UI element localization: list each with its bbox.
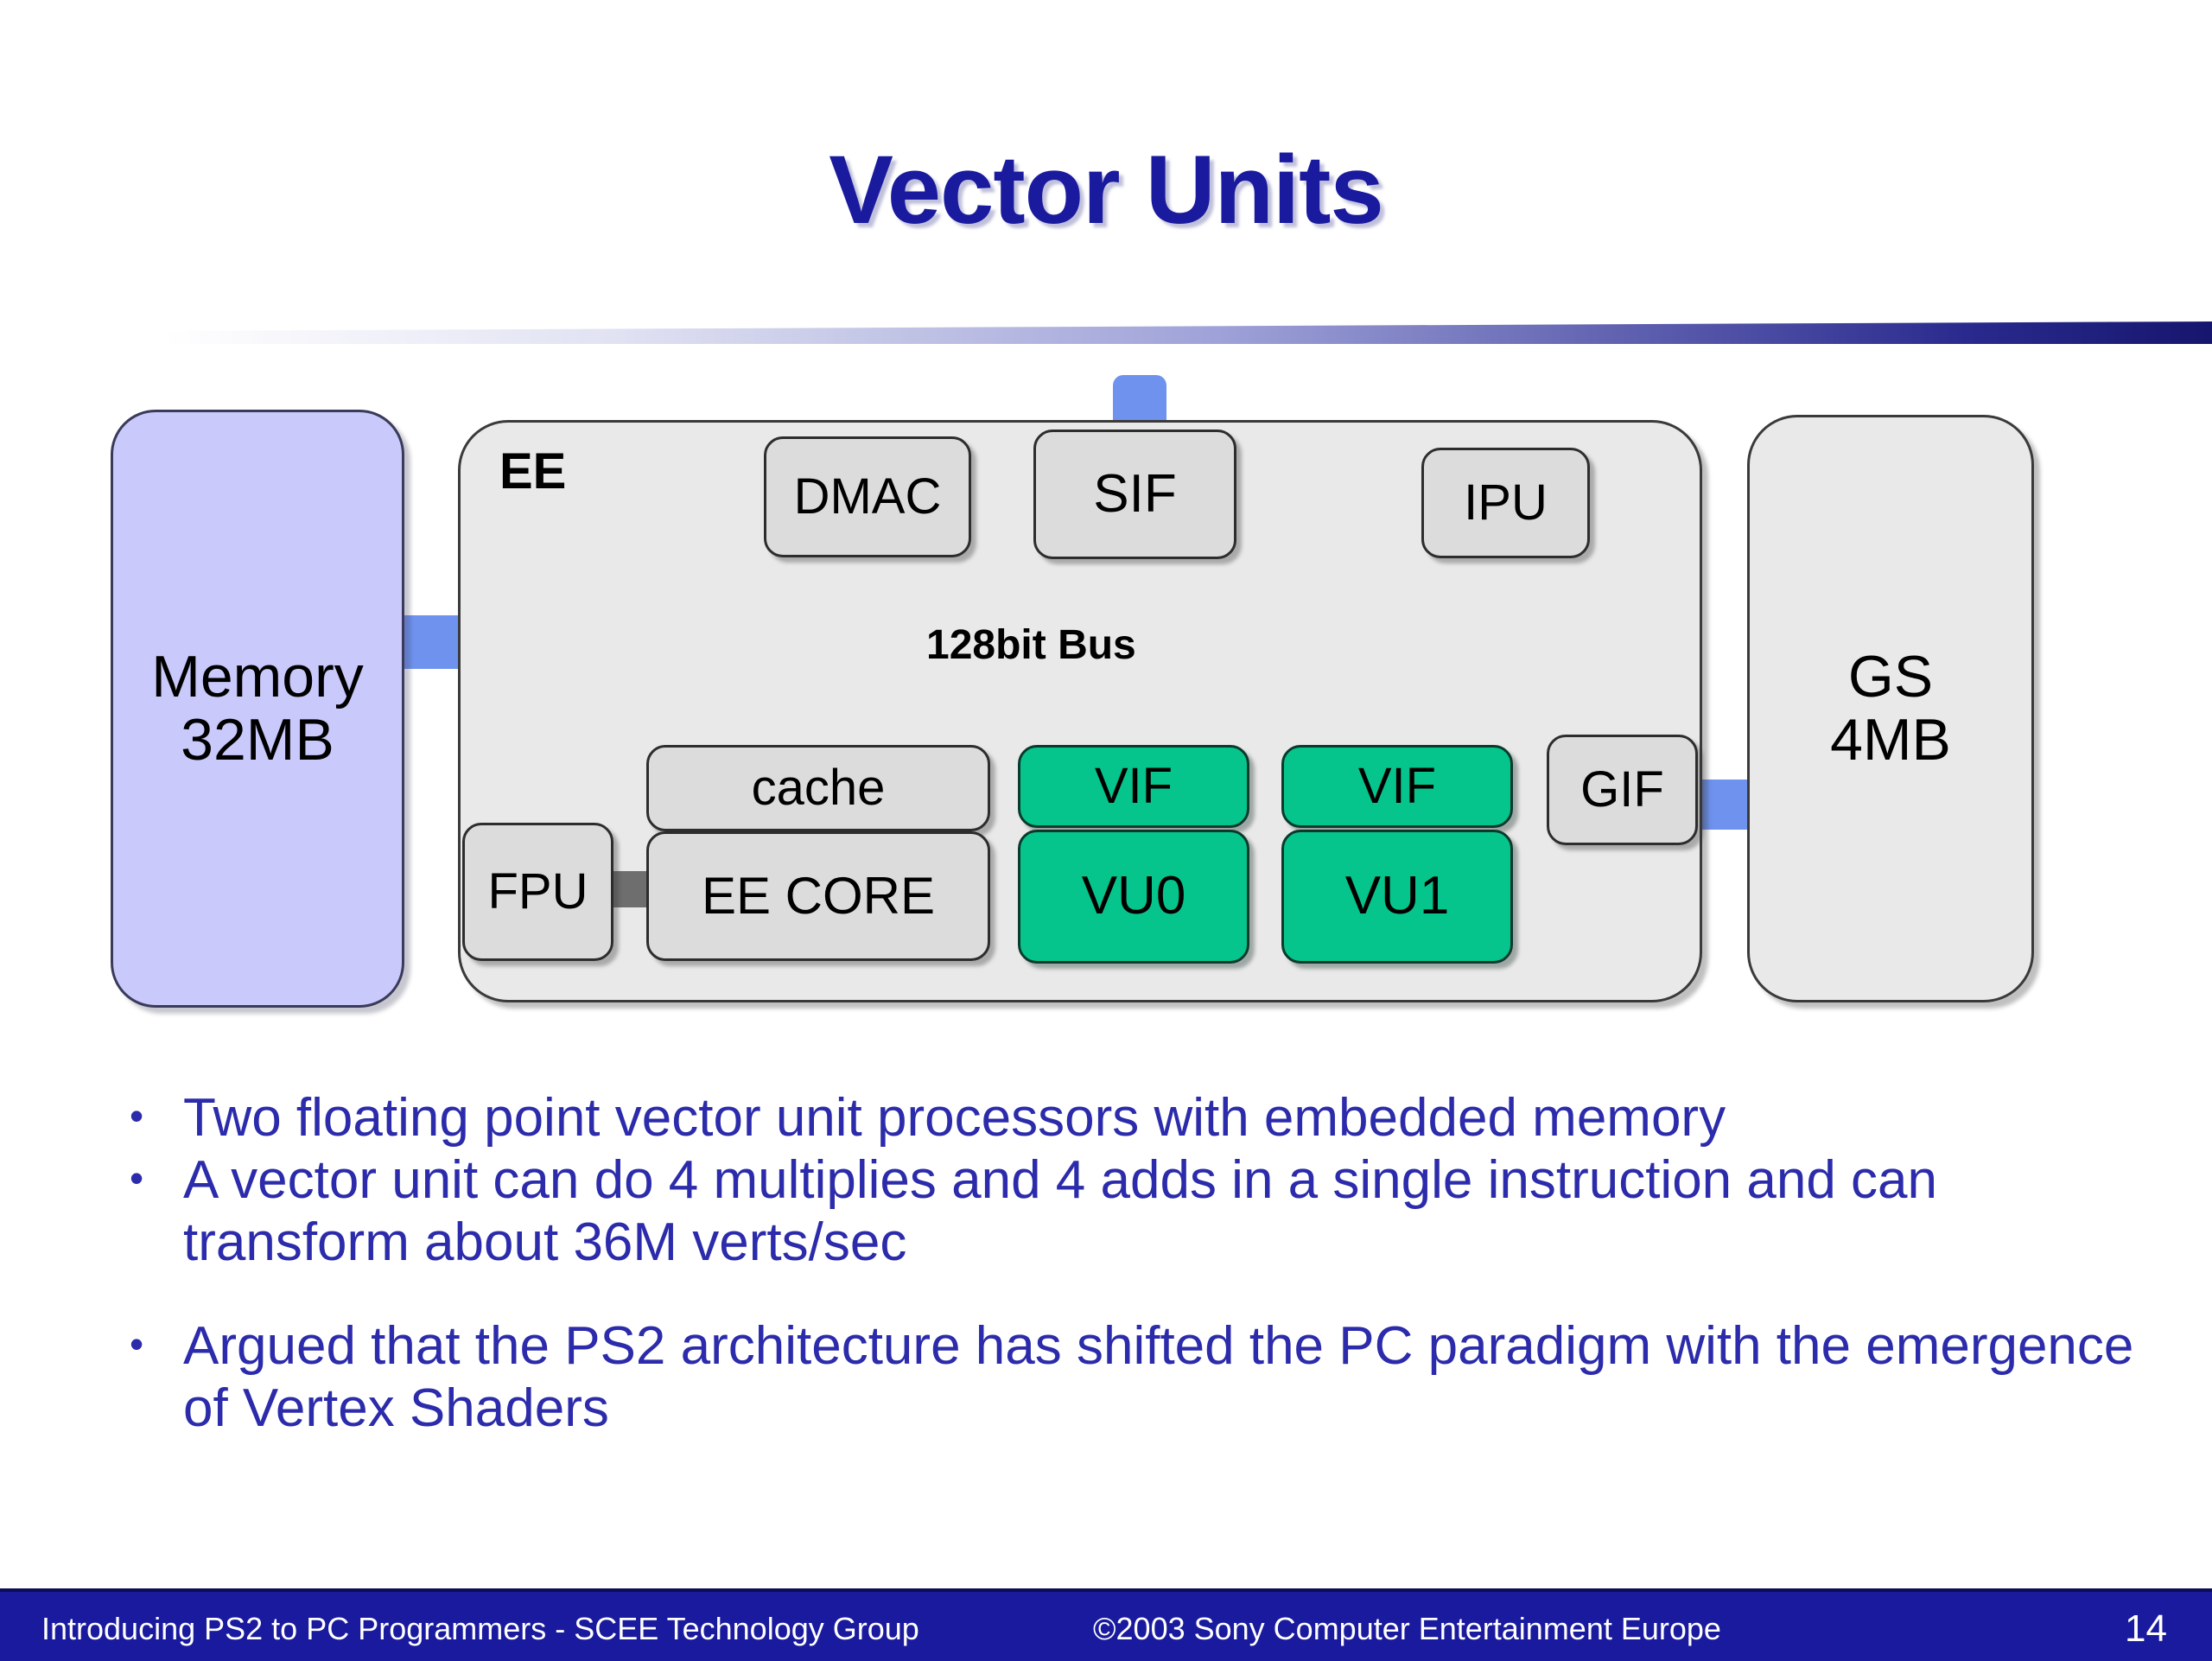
vu0-unit[interactable]: VU0 — [1018, 830, 1249, 964]
sif-unit[interactable]: SIF — [1033, 430, 1236, 559]
gif-unit[interactable]: GIF — [1547, 735, 1698, 845]
cache-unit[interactable]: cache — [646, 745, 990, 831]
memory-label-line2: 32MB — [181, 709, 334, 772]
vif1-unit[interactable]: VIF — [1281, 745, 1513, 828]
vif0-unit[interactable]: VIF — [1018, 745, 1249, 828]
fpu-unit[interactable]: FPU — [462, 823, 613, 961]
dmac-unit[interactable]: DMAC — [764, 436, 971, 557]
title-divider — [164, 321, 2212, 344]
footer-left-text: Introducing PS2 to PC Programmers - SCEE… — [41, 1611, 919, 1647]
bullet-text: Argued that the PS2 architecture has shi… — [183, 1315, 2152, 1440]
memory-label-line1: Memory — [151, 646, 364, 709]
list-item: • Two floating point vector unit process… — [130, 1087, 2152, 1149]
bullet-list: • Two floating point vector unit process… — [130, 1087, 2152, 1440]
list-item: • A vector unit can do 4 multiplies and … — [130, 1149, 2152, 1274]
page-title: Vector Units — [0, 134, 2212, 245]
bullet-dot-icon: • — [130, 1087, 183, 1145]
vu1-unit[interactable]: VU1 — [1281, 830, 1513, 964]
ipu-unit[interactable]: IPU — [1421, 448, 1590, 558]
bus-label: 128bit Bus — [926, 621, 1136, 669]
bullet-text: Two floating point vector unit processor… — [183, 1087, 2152, 1149]
page-number: 14 — [2125, 1607, 2167, 1651]
bullet-text: A vector unit can do 4 multiplies and 4 … — [183, 1149, 2152, 1274]
gs-label-line2: 4MB — [1830, 709, 1951, 772]
list-item: • Argued that the PS2 architecture has s… — [130, 1315, 2152, 1440]
gs-label-line1: GS — [1848, 646, 1933, 709]
footer-copyright: ©2003 Sony Computer Entertainment Europe — [1093, 1611, 1721, 1647]
gs-box[interactable]: GS 4MB — [1747, 415, 2034, 1002]
memory-box[interactable]: Memory 32MB — [111, 410, 404, 1008]
ee-core-unit[interactable]: EE CORE — [646, 831, 990, 961]
bullet-dot-icon: • — [130, 1149, 183, 1207]
ee-label: EE — [499, 442, 566, 500]
footer-bar: Introducing PS2 to PC Programmers - SCEE… — [0, 1588, 2212, 1661]
bullet-dot-icon: • — [130, 1315, 183, 1373]
